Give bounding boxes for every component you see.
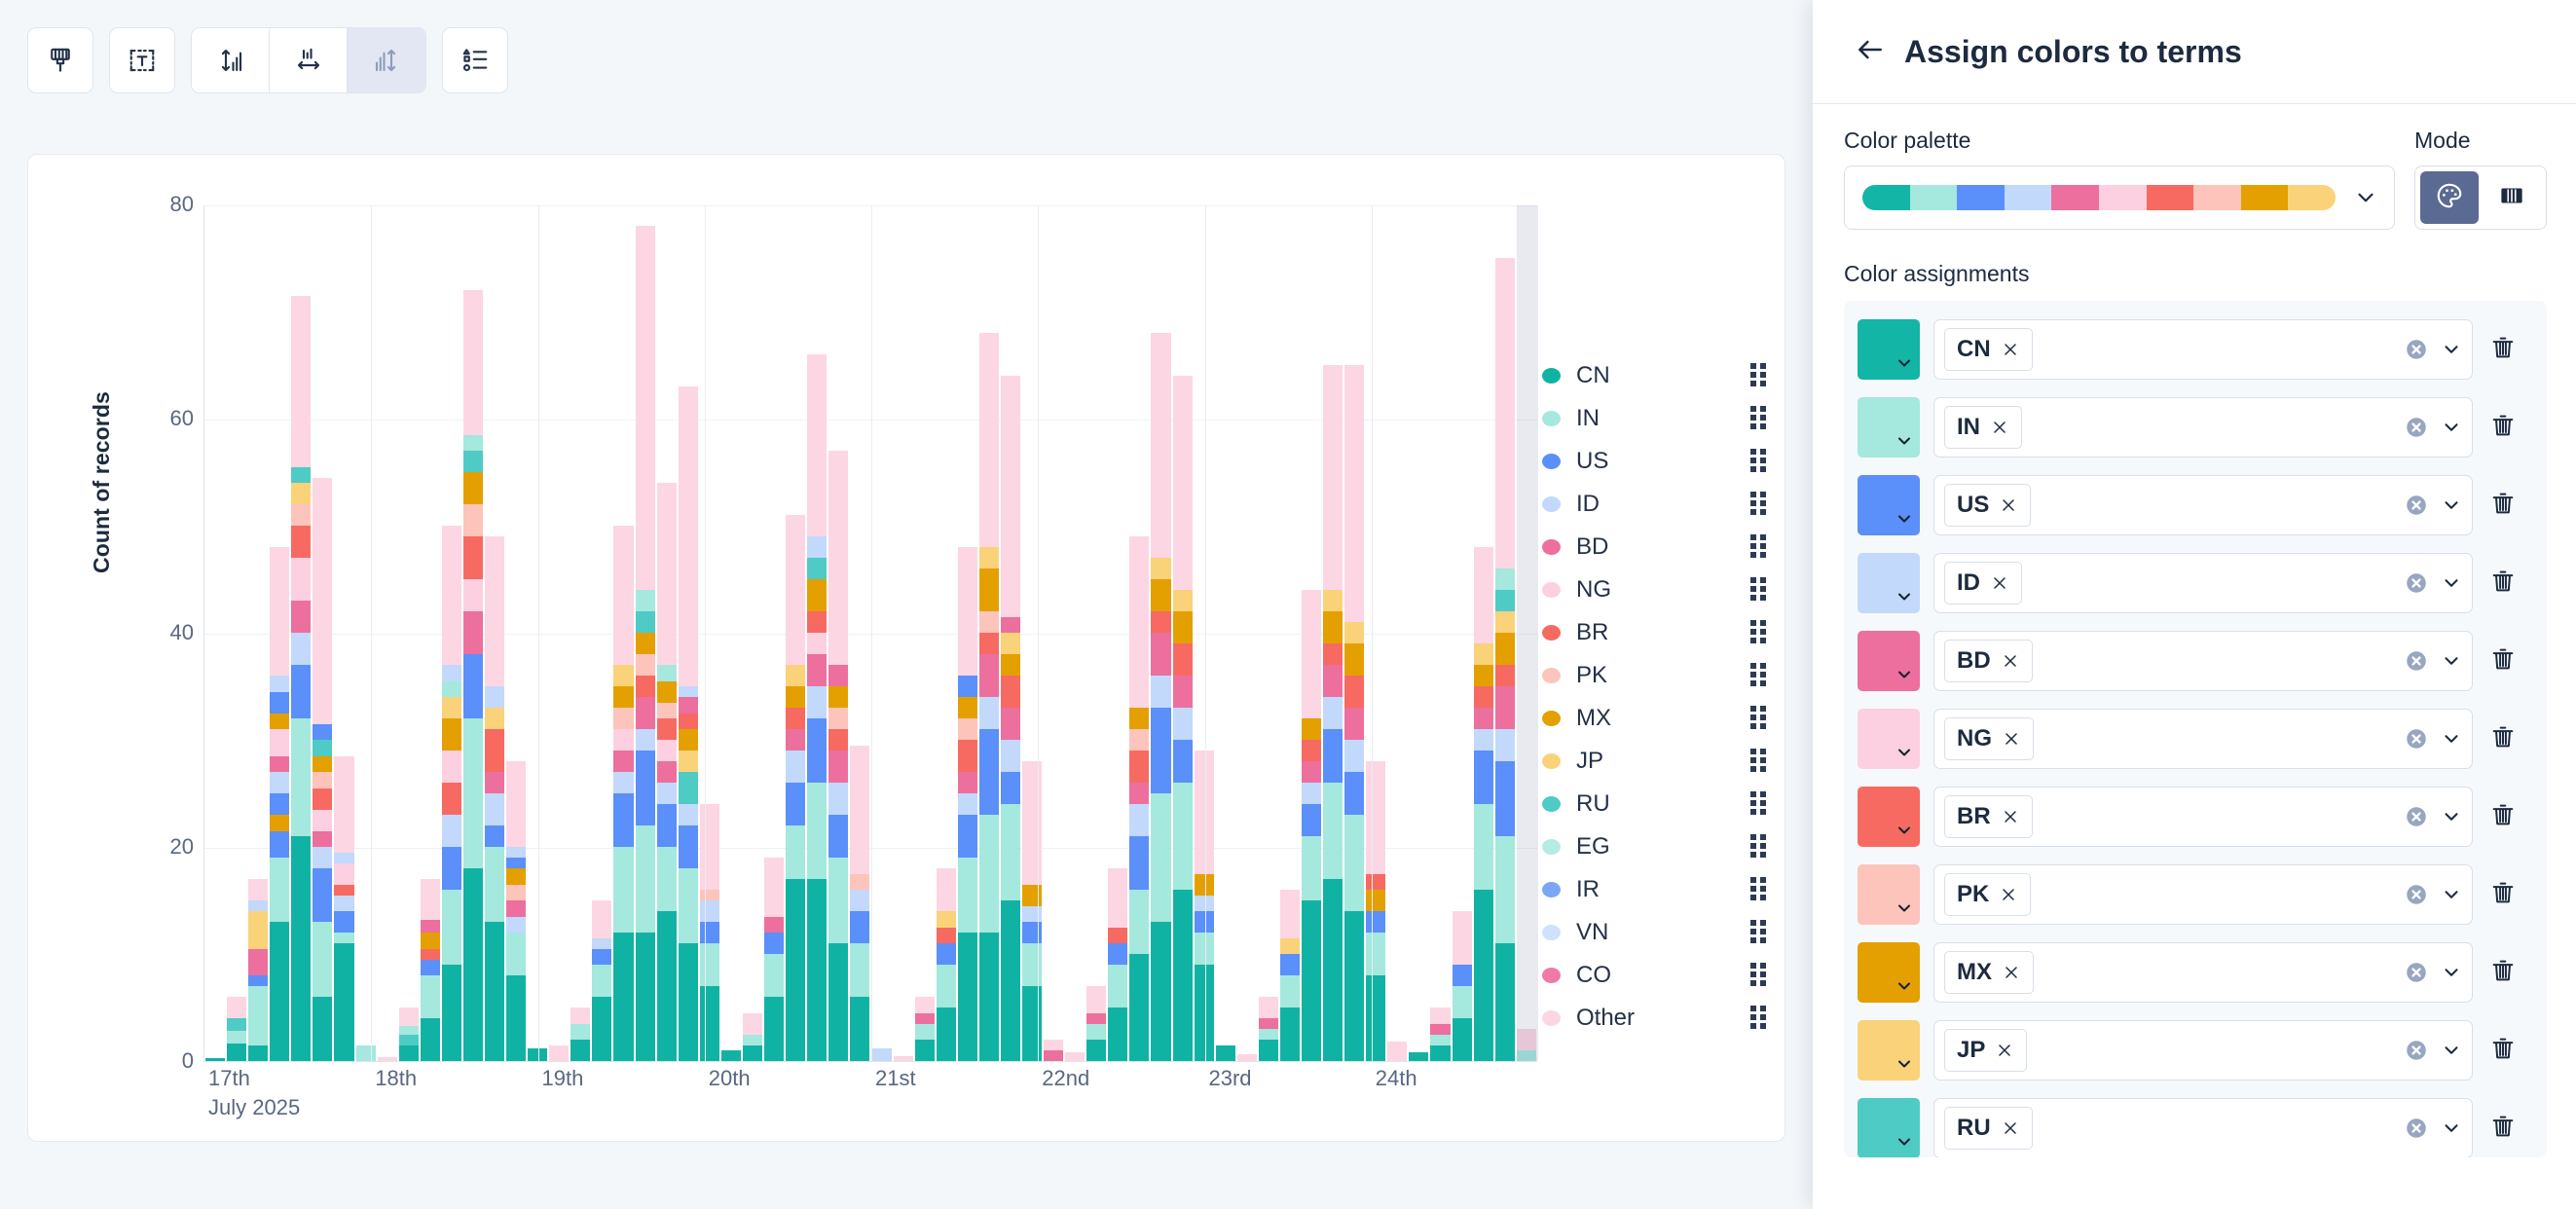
- bar-segment: [313, 847, 332, 868]
- term-combobox[interactable]: IN: [1933, 397, 2473, 458]
- legend-item-label: BD: [1576, 533, 1750, 561]
- gradient-mode-button[interactable]: [2483, 171, 2541, 224]
- bar-segment: [1495, 943, 1515, 1061]
- bar[interactable]: [742, 205, 763, 1061]
- horizontal-axis-button[interactable]: [270, 28, 348, 92]
- chevron-down-icon[interactable]: [2441, 1040, 2462, 1061]
- bar-segment: [421, 1018, 440, 1061]
- term-combobox[interactable]: US: [1933, 475, 2473, 535]
- legend-item-ng[interactable]: NG: [1542, 568, 1766, 611]
- bar[interactable]: [1150, 205, 1171, 1061]
- bar-segment: [442, 890, 461, 965]
- color-assignment-row: RU: [1858, 1089, 2533, 1157]
- bar-segment: [743, 1013, 762, 1035]
- bar-segment: [1302, 740, 1321, 761]
- bar-segment: [1001, 740, 1020, 772]
- bar-segment: [786, 729, 805, 751]
- chevron-down-icon[interactable]: [2441, 884, 2462, 905]
- bar-segment: [506, 900, 526, 917]
- bar-segment: [679, 697, 698, 714]
- clear-circle-icon[interactable]: [2404, 570, 2429, 596]
- bar-segment: [313, 997, 332, 1061]
- clear-circle-icon[interactable]: [2404, 960, 2429, 985]
- drag-handle-icon[interactable]: [1750, 534, 1766, 560]
- style-brush-button[interactable]: [27, 27, 93, 93]
- legend-item-us[interactable]: US: [1542, 440, 1766, 483]
- legend-color-dot: [1542, 368, 1561, 384]
- bar-segment: [958, 718, 977, 740]
- chevron-down-icon[interactable]: [2441, 962, 2462, 983]
- legend-item-id[interactable]: ID: [1542, 483, 1766, 526]
- close-icon[interactable]: [2001, 807, 2020, 826]
- drag-handle-icon[interactable]: [1750, 834, 1766, 860]
- bar-segment: [828, 665, 848, 686]
- bar-segment: [334, 863, 353, 885]
- bar-segment: [1001, 708, 1020, 740]
- palette-swatch-5: [2099, 185, 2147, 210]
- bar[interactable]: [1408, 205, 1429, 1061]
- bar-segment: [1086, 986, 1106, 1013]
- chevron-down-icon[interactable]: [2441, 1117, 2462, 1139]
- bar[interactable]: [1516, 205, 1537, 1061]
- palette-mode-button[interactable]: [2420, 171, 2479, 224]
- bar-segment: [1129, 804, 1149, 836]
- bar-segment: [700, 943, 719, 986]
- chevron-down-icon[interactable]: [2441, 806, 2462, 827]
- bar-segment: [1129, 536, 1149, 708]
- color-swatch-button[interactable]: [1858, 709, 1920, 769]
- bar[interactable]: [570, 205, 591, 1061]
- bar-segment: [1001, 617, 1020, 634]
- color-swatch-button[interactable]: [1858, 1020, 1920, 1081]
- bar[interactable]: [1215, 205, 1236, 1061]
- clear-circle-icon[interactable]: [2404, 804, 2429, 829]
- bar-segment: [700, 890, 719, 900]
- delete-assignment-button[interactable]: [2473, 334, 2533, 366]
- delete-assignment-button[interactable]: [2473, 412, 2533, 444]
- close-icon[interactable]: [2001, 340, 2020, 359]
- bar[interactable]: [936, 205, 957, 1061]
- bar-segment: [1453, 965, 1472, 986]
- x-tick-label: 24th: [1371, 1066, 1417, 1091]
- bar-segment: [1387, 1042, 1407, 1061]
- clear-circle-icon[interactable]: [2404, 882, 2429, 907]
- bar-segment: [807, 611, 827, 633]
- clear-circle-icon[interactable]: [2404, 648, 2429, 674]
- term-label: US: [1957, 492, 1989, 519]
- bar[interactable]: [656, 205, 678, 1061]
- bar-segment: [270, 676, 289, 692]
- trash-icon: [2489, 801, 2517, 833]
- text-annotation-button[interactable]: [109, 27, 175, 93]
- bar-segment: [721, 1050, 741, 1061]
- term-combobox[interactable]: RU: [1933, 1098, 2473, 1157]
- legend-color-dot: [1542, 625, 1561, 641]
- bar-segment: [915, 1040, 935, 1061]
- drag-handle-icon[interactable]: [1750, 406, 1766, 431]
- chevron-down-icon[interactable]: [2441, 339, 2462, 360]
- legend-item-label: Other: [1576, 1005, 1750, 1032]
- bar[interactable]: [1473, 205, 1494, 1061]
- bar-segment: [786, 686, 805, 708]
- bar[interactable]: [290, 205, 312, 1061]
- legend-item-in[interactable]: IN: [1542, 397, 1766, 440]
- bar-segment: [679, 751, 698, 772]
- drag-handle-icon[interactable]: [1750, 620, 1766, 645]
- bar-segment: [334, 853, 353, 863]
- day-gridline: [705, 205, 706, 1061]
- x-tick-label: 22nd: [1037, 1066, 1089, 1091]
- bar[interactable]: [312, 205, 333, 1061]
- trash-icon: [2489, 568, 2517, 600]
- chevron-down-icon: [1895, 509, 1914, 533]
- close-icon[interactable]: [1995, 1041, 2014, 1060]
- delete-assignment-button[interactable]: [2473, 1113, 2533, 1145]
- bar[interactable]: [484, 205, 505, 1061]
- legend-item-ir[interactable]: IR: [1542, 868, 1766, 911]
- bar[interactable]: [763, 205, 785, 1061]
- bar-segment: [485, 922, 504, 1061]
- day-gridline: [1038, 205, 1039, 1061]
- chevron-down-icon[interactable]: [2441, 650, 2462, 672]
- color-swatch-button[interactable]: [1858, 631, 1920, 691]
- bar[interactable]: [355, 205, 377, 1061]
- bar-segment: [334, 943, 353, 1061]
- bar-segment: [657, 703, 677, 719]
- bar-segment: [979, 633, 999, 654]
- bar[interactable]: [377, 205, 398, 1061]
- term-combobox[interactable]: PK: [1933, 864, 2473, 925]
- legend-item-label: IR: [1576, 876, 1750, 903]
- bar[interactable]: [420, 205, 441, 1061]
- bar[interactable]: [226, 205, 247, 1061]
- day-gridline: [871, 205, 872, 1061]
- chevron-down-icon[interactable]: [2441, 728, 2462, 750]
- legend-item-ru[interactable]: RU: [1542, 783, 1766, 825]
- color-swatch-button[interactable]: [1858, 864, 1920, 925]
- legend-item-label: JP: [1576, 748, 1750, 775]
- delete-assignment-button[interactable]: [2473, 645, 2533, 678]
- bar-segment: [613, 751, 633, 772]
- bar-segment: [657, 783, 677, 804]
- bar-segment: [657, 740, 677, 761]
- chevron-down-icon[interactable]: [2441, 495, 2462, 516]
- bar-segment: [1001, 900, 1020, 1061]
- bar-segment: [442, 965, 461, 1061]
- bar[interactable]: [1086, 205, 1107, 1061]
- bar-segment: [979, 697, 999, 729]
- close-icon[interactable]: [2001, 651, 2020, 671]
- bar-segment: [270, 793, 289, 815]
- drag-handle-icon[interactable]: [1750, 449, 1766, 474]
- bar-segment: [1366, 761, 1385, 874]
- bar[interactable]: [591, 205, 612, 1061]
- bar-segment: [1323, 643, 1343, 665]
- term-pill[interactable]: PK: [1944, 873, 2031, 916]
- drag-handle-icon[interactable]: [1750, 749, 1766, 774]
- bar-segment: [463, 536, 483, 579]
- drag-handle-icon[interactable]: [1750, 363, 1766, 388]
- bar[interactable]: [635, 205, 656, 1061]
- bar[interactable]: [505, 205, 527, 1061]
- bar-segment: [313, 922, 332, 997]
- bar[interactable]: [269, 205, 290, 1061]
- bar[interactable]: [1365, 205, 1386, 1061]
- bar-segment: [979, 333, 999, 547]
- bar[interactable]: [1429, 205, 1451, 1061]
- bar-segment: [463, 718, 483, 868]
- bar[interactable]: [333, 205, 354, 1061]
- term-pill[interactable]: ID: [1944, 562, 2022, 604]
- term-combobox[interactable]: MX: [1933, 942, 2473, 1003]
- bar-segment: [937, 1007, 956, 1061]
- bar-segment: [1302, 590, 1321, 718]
- chevron-down-icon: [1895, 665, 1914, 689]
- bar-segment: [743, 1035, 762, 1045]
- bar[interactable]: [398, 205, 420, 1061]
- bar[interactable]: [1258, 205, 1279, 1061]
- bar-segment: [463, 868, 483, 1061]
- clear-circle-icon[interactable]: [2404, 1116, 2429, 1141]
- bar-segment: [958, 697, 977, 718]
- palette-select[interactable]: [1844, 165, 2395, 230]
- legend-color-dot: [1542, 925, 1561, 940]
- drag-handle-icon[interactable]: [1750, 791, 1766, 817]
- bar-segment: [679, 943, 698, 1061]
- delete-assignment-button[interactable]: [2473, 723, 2533, 755]
- legend-item-bd[interactable]: BD: [1542, 526, 1766, 568]
- clear-circle-icon[interactable]: [2404, 1038, 2429, 1063]
- bar-segment: [1474, 890, 1493, 1061]
- bar[interactable]: [806, 205, 828, 1061]
- close-icon[interactable]: [2002, 729, 2021, 749]
- clear-circle-icon[interactable]: [2404, 337, 2429, 362]
- close-icon[interactable]: [2002, 963, 2021, 982]
- term-pill[interactable]: NG: [1944, 717, 2034, 760]
- bar-segment: [291, 718, 311, 836]
- bar[interactable]: [957, 205, 978, 1061]
- bar[interactable]: [849, 205, 870, 1061]
- vertical-axis-button[interactable]: [192, 28, 270, 92]
- bar-segment: [636, 751, 655, 825]
- bar-segment: [1344, 911, 1364, 1061]
- bar-segment: [700, 804, 719, 890]
- close-icon[interactable]: [1999, 885, 2018, 904]
- legend-item-pk[interactable]: PK: [1542, 654, 1766, 697]
- bar-segment: [828, 729, 848, 751]
- bar-segment: [1001, 633, 1020, 654]
- legend-options-button[interactable]: [442, 27, 508, 93]
- close-icon[interactable]: [1999, 495, 2018, 515]
- close-icon[interactable]: [1990, 573, 2009, 593]
- chart-legend: CNINUSIDBDNGBRPKMXJPRUEGIRVNCOOther: [1542, 354, 1766, 1040]
- term-combobox[interactable]: CN: [1933, 319, 2473, 380]
- palette-swatch-9: [2288, 185, 2336, 210]
- bar-segment: [657, 847, 677, 911]
- term-pill[interactable]: CN: [1944, 328, 2033, 371]
- color-swatch-button[interactable]: [1858, 319, 1920, 380]
- term-combobox[interactable]: NG: [1933, 709, 2473, 769]
- bar-segment: [248, 1045, 268, 1062]
- legend-item-br[interactable]: BR: [1542, 611, 1766, 654]
- delete-assignment-button[interactable]: [2473, 801, 2533, 833]
- clear-circle-icon[interactable]: [2404, 493, 2429, 518]
- bar-segment: [1151, 333, 1170, 558]
- bar[interactable]: [548, 205, 570, 1061]
- bar[interactable]: [462, 205, 484, 1061]
- bar[interactable]: [870, 205, 892, 1061]
- chevron-down-icon[interactable]: [2441, 417, 2462, 438]
- bar-segment: [1453, 911, 1472, 965]
- term-combobox[interactable]: BD: [1933, 631, 2473, 691]
- bar-segment: [807, 354, 827, 536]
- delete-assignment-button[interactable]: [2473, 1035, 2533, 1067]
- bar[interactable]: [1494, 205, 1516, 1061]
- term-label: NG: [1957, 725, 1992, 752]
- chevron-down-icon: [1895, 353, 1914, 378]
- term-pill[interactable]: US: [1944, 484, 2031, 527]
- y-tick-label: 60: [135, 406, 194, 431]
- drag-handle-icon[interactable]: [1750, 1006, 1766, 1031]
- bar[interactable]: [1021, 205, 1043, 1061]
- legend-item-jp[interactable]: JP: [1542, 740, 1766, 783]
- bar[interactable]: [1000, 205, 1021, 1061]
- bar-segment: [463, 290, 483, 435]
- delete-assignment-button[interactable]: [2473, 568, 2533, 600]
- bar[interactable]: [785, 205, 806, 1061]
- close-icon[interactable]: [1990, 418, 2009, 437]
- color-swatch-button[interactable]: [1858, 475, 1920, 535]
- term-pill[interactable]: BD: [1944, 640, 2033, 682]
- bar[interactable]: [828, 205, 849, 1061]
- bar[interactable]: [247, 205, 269, 1061]
- legend-item-label: PK: [1576, 662, 1750, 689]
- bar[interactable]: [699, 205, 720, 1061]
- bar[interactable]: [893, 205, 914, 1061]
- term-label: PK: [1957, 881, 1989, 908]
- bar-segment: [828, 858, 848, 943]
- term-pill[interactable]: BR: [1944, 795, 2033, 838]
- back-button[interactable]: [1850, 31, 1891, 72]
- x-tick-label: 21st: [870, 1066, 916, 1091]
- bar[interactable]: [1301, 205, 1322, 1061]
- bar[interactable]: [1064, 205, 1086, 1061]
- bar-segment: [764, 858, 784, 917]
- clear-circle-icon[interactable]: [2404, 415, 2429, 440]
- bar-segment: [1129, 751, 1149, 783]
- drag-handle-icon[interactable]: [1750, 920, 1766, 945]
- bar[interactable]: [914, 205, 936, 1061]
- legend-item-cn[interactable]: CN: [1542, 354, 1766, 397]
- bar[interactable]: [1343, 205, 1365, 1061]
- term-pill[interactable]: RU: [1944, 1107, 2033, 1150]
- bar-segment: [979, 933, 999, 1061]
- bar-segment: [1302, 900, 1321, 1061]
- drag-handle-icon[interactable]: [1750, 577, 1766, 603]
- bar-segment: [291, 504, 311, 526]
- term-combobox[interactable]: JP: [1933, 1020, 2473, 1081]
- bar-segment: [1517, 1029, 1536, 1050]
- bar-segment: [700, 986, 719, 1061]
- delete-assignment-button[interactable]: [2473, 490, 2533, 522]
- bar-segment: [613, 686, 633, 708]
- term-pill[interactable]: MX: [1944, 951, 2034, 994]
- legend-color-dot: [1542, 1010, 1561, 1026]
- legend-item-label: CO: [1576, 962, 1750, 989]
- color-swatch-button[interactable]: [1858, 787, 1920, 847]
- bar-segment: [807, 879, 827, 1061]
- legend-item-mx[interactable]: MX: [1542, 697, 1766, 740]
- bar[interactable]: [1279, 205, 1301, 1061]
- color-swatch-button[interactable]: [1858, 942, 1920, 1003]
- bar-segment: [1001, 376, 1020, 617]
- bar[interactable]: [1236, 205, 1258, 1061]
- bar-segment: [807, 558, 827, 579]
- bar[interactable]: [1386, 205, 1408, 1061]
- drag-handle-icon[interactable]: [1750, 963, 1766, 988]
- bar-segment: [291, 665, 311, 718]
- bar[interactable]: [1043, 205, 1064, 1061]
- legend-item-co[interactable]: CO: [1542, 954, 1766, 997]
- bar-segment: [442, 526, 461, 665]
- term-combobox[interactable]: ID: [1933, 553, 2473, 613]
- bar[interactable]: [1128, 205, 1150, 1061]
- bar[interactable]: [1172, 205, 1194, 1061]
- bar[interactable]: [1452, 205, 1473, 1061]
- drag-handle-icon[interactable]: [1750, 877, 1766, 902]
- term-pill[interactable]: JP: [1944, 1029, 2027, 1072]
- legend-item-vn[interactable]: VN: [1542, 911, 1766, 954]
- bar[interactable]: [612, 205, 634, 1061]
- bar[interactable]: [720, 205, 742, 1061]
- color-swatch-button[interactable]: [1858, 1098, 1920, 1157]
- color-swatch-button[interactable]: [1858, 397, 1920, 458]
- color-swatch-button[interactable]: [1858, 553, 1920, 613]
- bar-segment: [1474, 729, 1493, 751]
- bar-segment: [636, 654, 655, 676]
- term-pill[interactable]: IN: [1944, 406, 2022, 449]
- bar[interactable]: [441, 205, 462, 1061]
- legend-item-eg[interactable]: EG: [1542, 825, 1766, 868]
- term-combobox[interactable]: BR: [1933, 787, 2473, 847]
- close-icon[interactable]: [2001, 1118, 2020, 1138]
- delete-assignment-button[interactable]: [2473, 879, 2533, 911]
- drag-handle-icon[interactable]: [1750, 663, 1766, 688]
- bar-segment: [636, 729, 655, 751]
- clear-circle-icon[interactable]: [2404, 726, 2429, 751]
- bar[interactable]: [1107, 205, 1128, 1061]
- drag-handle-icon[interactable]: [1750, 706, 1766, 731]
- bar[interactable]: [1322, 205, 1343, 1061]
- y-tick-label: 0: [135, 1048, 194, 1074]
- bar[interactable]: [204, 205, 226, 1061]
- delete-assignment-button[interactable]: [2473, 957, 2533, 989]
- bar-segment: [506, 868, 526, 885]
- bar-segment: [958, 740, 977, 772]
- bar-segment: [1173, 643, 1193, 676]
- bar[interactable]: [678, 205, 699, 1061]
- legend-list-icon: [460, 46, 490, 75]
- drag-handle-icon[interactable]: [1750, 492, 1766, 517]
- bar-segment: [442, 718, 461, 751]
- bar-segment: [570, 1007, 590, 1024]
- legend-item-other[interactable]: Other: [1542, 997, 1766, 1040]
- bar[interactable]: [978, 205, 1000, 1061]
- value-axis-button[interactable]: [348, 28, 425, 92]
- bar-segment: [506, 761, 526, 847]
- bar-segment: [442, 665, 461, 681]
- chevron-down-icon[interactable]: [2441, 572, 2462, 594]
